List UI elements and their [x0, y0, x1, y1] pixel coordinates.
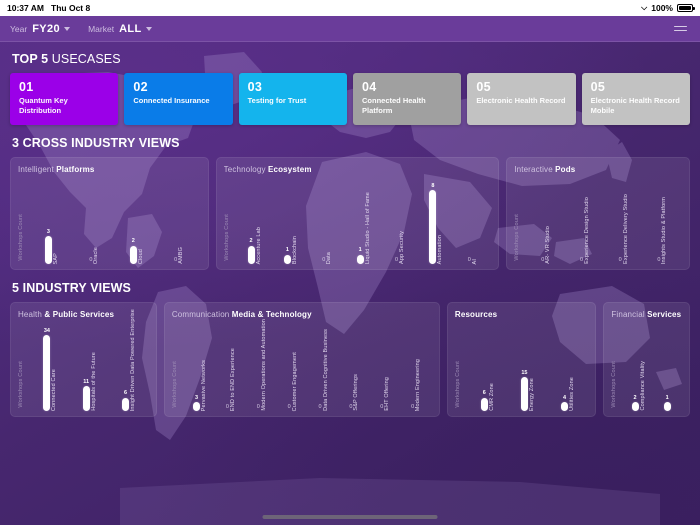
status-right-cluster: ⌵ 100% — [641, 3, 693, 13]
bar-value-label: 1 — [359, 247, 362, 253]
usecase-card-05-4[interactable]: 05Electronic Health Record — [467, 73, 575, 125]
usecase-card-03-2[interactable]: 03Testing for Trust — [239, 73, 347, 125]
bar-category-label: Insight Driven Data Powered Enterprise — [130, 309, 136, 411]
usecase-name: Connected Insurance — [133, 96, 223, 106]
bar-group[interactable]: 15Energy Zone — [508, 370, 548, 411]
bar-category-label: S&P Offerings — [353, 374, 359, 411]
bar-category-label: Modern Operations and Automation — [261, 319, 267, 411]
bar-value-label: 8 — [431, 183, 434, 189]
panel-title-bold: Ecosystem — [268, 165, 312, 174]
bar[interactable] — [664, 402, 671, 411]
bar-value-label: 1 — [286, 247, 289, 253]
cross-industry-section-title: 3 CROSS INDUSTRY VIEWS — [12, 136, 690, 150]
usecase-name: Electronic Health Record Mobile — [591, 96, 681, 115]
chart-panel-resources[interactable]: ResourcesWorkshops Count6CMR Zone15Energ… — [447, 302, 596, 417]
panel-title-bold: & Public Services — [44, 310, 114, 319]
bar-value-label: 0 — [468, 257, 471, 263]
bar-category-label: END to END Experience — [230, 348, 236, 411]
bar[interactable] — [130, 246, 137, 265]
bar-column: 1 — [664, 395, 671, 412]
bar-value-label: 0 — [174, 257, 177, 263]
usecase-rank: 01 — [19, 81, 109, 94]
ios-status-bar: 10:37 AM Thu Oct 8 ⌵ 100% — [0, 0, 700, 16]
bar-group[interactable]: 8Automation — [419, 183, 455, 265]
bar-group[interactable]: 0AMBG — [158, 247, 200, 264]
bar-group[interactable]: 0Modern Operations and Automation — [247, 319, 278, 411]
bar-series: 0AR- VR Studio0Experience Design Studio0… — [527, 176, 682, 264]
dashboard-content: TOP 5 USECASES 01Quantum Key Distributio… — [0, 42, 700, 417]
bar-column: 0 — [322, 257, 325, 265]
bar-column: 0 — [288, 404, 291, 412]
panel-title: Financial Services — [611, 310, 682, 319]
bar-column: 0 — [541, 257, 544, 265]
bar-value-label: 0 — [657, 257, 660, 263]
bar-group[interactable]: 0Data Driven Cognitive Business — [308, 329, 339, 411]
y-axis-label: Workshops Count — [611, 361, 617, 408]
bar-column: 2 — [248, 238, 255, 264]
bar-group[interactable]: 3SAP — [31, 229, 73, 264]
bar-group[interactable]: 1Blockchain — [273, 236, 309, 264]
y-axis-label: Workshops Count — [172, 361, 178, 408]
panel-title-light: Health — [18, 310, 42, 319]
bar-column: 0 — [619, 257, 622, 265]
usecase-card-01-0[interactable]: 01Quantum Key Distribution — [10, 73, 118, 125]
bar-group[interactable]: 0Oracle — [73, 247, 115, 264]
status-date: Thu Oct 8 — [51, 3, 90, 13]
bar-column: 0 — [226, 404, 229, 412]
bar[interactable] — [43, 335, 50, 411]
bar[interactable] — [481, 398, 488, 411]
bar-group[interactable]: 2Accenture Lab — [237, 227, 273, 264]
usecase-name: Electronic Health Record — [476, 96, 566, 106]
year-filter-value: FY20 — [32, 23, 60, 35]
market-filter-label: Market — [88, 24, 114, 34]
plot-area: Workshops Count2Compliance Vitality1 — [611, 321, 682, 411]
bar-category-label: Automation — [437, 235, 443, 264]
market-filter[interactable]: Market ALL — [88, 23, 152, 35]
bar-column: 0 — [411, 404, 414, 412]
bar-value-label: 0 — [226, 404, 229, 410]
bar-group[interactable]: 1Liquid Studio - Hall of Fame — [346, 192, 382, 264]
chart-panel-health-public-services[interactable]: Health & Public ServicesWorkshops Count3… — [10, 302, 157, 417]
battery-percent-label: 100% — [651, 3, 673, 13]
bar-category-label: Compliance Vitality — [640, 361, 646, 411]
bar-value-label: 0 — [380, 404, 383, 410]
bar-value-label: 6 — [483, 390, 486, 396]
market-filter-value: ALL — [119, 23, 142, 35]
chart-panel-financial-services[interactable]: Financial ServicesWorkshops Count2Compli… — [603, 302, 690, 417]
bar-column: 34 — [43, 328, 50, 412]
industry-section-title: 5 INDUSTRY VIEWS — [12, 281, 690, 295]
bar[interactable] — [521, 377, 528, 411]
bar-group[interactable]: 0EHT Offering — [370, 377, 401, 411]
bar-column: 0 — [257, 404, 260, 412]
year-filter-label: Year — [10, 24, 27, 34]
battery-icon — [677, 4, 693, 12]
top5-section-title: TOP 5 USECASES — [12, 52, 690, 66]
usecase-name: Connected Health Platform — [362, 96, 452, 115]
bar-group[interactable]: 0App Security — [382, 231, 418, 264]
bar-value-label: 0 — [349, 404, 352, 410]
bar-value-label: 0 — [89, 257, 92, 263]
usecase-card-list: 01Quantum Key Distribution02Connected In… — [10, 73, 690, 125]
bar[interactable] — [193, 402, 200, 411]
bar-column: 0 — [395, 257, 398, 265]
bar[interactable] — [561, 402, 568, 411]
bar-value-label: 2 — [250, 238, 253, 244]
bar-category-label: Connected Care — [51, 369, 57, 411]
bar-column: 1 — [357, 247, 364, 264]
usecase-name: Quantum Key Distribution — [19, 96, 109, 115]
bar-group[interactable]: 2Compliance Vitality — [624, 361, 653, 411]
bar-value-label: 1 — [666, 395, 669, 401]
bar-value-label: 0 — [288, 404, 291, 410]
bar-value-label: 2 — [132, 238, 135, 244]
bar-category-label: EHT Offering — [384, 377, 390, 411]
bar-value-label: 0 — [395, 257, 398, 263]
bar-category-label: Data Driven Cognitive Business — [323, 329, 329, 411]
bar[interactable] — [248, 246, 255, 265]
bar-category-label: Customer Engagement — [292, 352, 298, 411]
bar-group[interactable]: 6CMR Zone — [468, 383, 508, 411]
bar-group[interactable]: 4Utilities Zone — [548, 377, 588, 411]
panel-title-light: Financial — [611, 310, 644, 319]
bar-column: 11 — [83, 379, 90, 411]
plot-area: Workshops Count34Connected Care11Hospita… — [18, 321, 149, 411]
bar-category-label: Blockchain — [292, 236, 298, 264]
usecase-rank: 05 — [591, 81, 681, 94]
bar-category-label: AMBG — [178, 247, 184, 264]
dashboard-app: 10:37 AM Thu Oct 8 ⌵ 100% Year FY20 Mark… — [0, 0, 700, 525]
plot-area: Workshops Count6CMR Zone15Energy Zone4Ut… — [455, 321, 588, 411]
plot-area: Workshops Count0AR- VR Studio0Experience… — [514, 176, 682, 264]
y-axis-label: Workshops Count — [224, 214, 230, 261]
bar-category-label: SAP — [53, 253, 59, 264]
bar-category-label: Oracle — [93, 247, 99, 264]
bar-category-label: CMR Zone — [489, 383, 495, 411]
cross-industry-panels: Intelligent PlatformsWorkshops Count3SAP… — [10, 157, 690, 270]
bar-category-label: AR- VR Studio — [545, 226, 551, 264]
panel-title-bold: Resources — [455, 310, 497, 319]
bar-category-label: Cloud — [138, 249, 144, 264]
bar-column: 0 — [468, 257, 471, 265]
panel-title: Technology Ecosystem — [224, 165, 492, 174]
bar-group[interactable]: 0Experience Delivery Studio — [605, 194, 644, 264]
bar-column: 0 — [580, 257, 583, 265]
bar-column: 3 — [45, 229, 52, 264]
bar-category-label: Liquid Studio - Hall of Fame — [365, 192, 371, 264]
bar-group[interactable]: 2Cloud — [116, 238, 158, 264]
bar-column: 2 — [130, 238, 137, 264]
bar[interactable] — [45, 236, 52, 264]
bar-category-label: Experience Design Studio — [584, 197, 590, 264]
bar-category-label: Energy Zone — [529, 378, 535, 411]
bar-category-label: App Security — [399, 231, 405, 264]
bar-group[interactable]: 0S&P Offerings — [339, 374, 370, 411]
bar-group[interactable]: 3Pervasive Networks — [185, 360, 216, 411]
bar-value-label: 0 — [619, 257, 622, 263]
usecase-card-04-3[interactable]: 04Connected Health Platform — [353, 73, 461, 125]
bar-value-label: 15 — [521, 370, 527, 376]
usecase-rank: 03 — [248, 81, 338, 94]
panel-title-bold: Pods — [555, 165, 575, 174]
bar-group[interactable]: 0AR- VR Studio — [527, 226, 566, 264]
usecase-rank: 05 — [476, 81, 566, 94]
bar[interactable] — [284, 255, 291, 264]
bar-series: 6CMR Zone15Energy Zone4Utilities Zone — [468, 321, 588, 411]
y-axis-label: Workshops Count — [455, 361, 461, 408]
bar-value-label: 0 — [257, 404, 260, 410]
bar-column: 6 — [122, 390, 129, 411]
bar-column: 0 — [174, 257, 177, 265]
bar-column: 0 — [89, 257, 92, 265]
bar-series: 34Connected Care11Hospitals of the Futur… — [31, 321, 149, 411]
home-indicator[interactable] — [263, 515, 438, 519]
bar-group[interactable]: 0Insights Studio & Platform — [643, 197, 682, 264]
top5-heading-num: TOP 5 — [12, 52, 48, 66]
bar-column: 15 — [521, 370, 528, 411]
bar-column: 3 — [193, 395, 200, 412]
bar-value-label: 3 — [195, 395, 198, 401]
bar-category-label: Insights Studio & Platform — [661, 197, 667, 264]
bar-category-label: Accenture Lab — [256, 227, 262, 264]
status-time: 10:37 AM — [7, 3, 44, 13]
panel-title-light: Interactive — [514, 165, 553, 174]
bar-column: 0 — [657, 257, 660, 265]
cross-industry-heading-num: 3 — [12, 136, 19, 150]
bar-column: 8 — [429, 183, 436, 265]
bar-group[interactable]: 0Data — [309, 252, 345, 264]
dashboard-canvas: TOP 5 USECASES 01Quantum Key Distributio… — [0, 42, 700, 525]
panel-title: Interactive Pods — [514, 165, 682, 174]
panel-title-bold: Platforms — [56, 165, 94, 174]
chart-panel-communication-media-technology[interactable]: Communication Media & TechnologyWorkshop… — [164, 302, 440, 417]
industry-heading-rest: INDUSTRY VIEWS — [23, 281, 131, 295]
bar-value-label: 2 — [634, 395, 637, 401]
y-axis-label: Workshops Count — [18, 214, 24, 261]
bar-column: 0 — [349, 404, 352, 412]
bar-value-label: 0 — [541, 257, 544, 263]
usecase-rank: 04 — [362, 81, 452, 94]
bar-value-label: 0 — [322, 257, 325, 263]
year-filter[interactable]: Year FY20 — [10, 23, 70, 35]
wifi-icon: ⌵ — [641, 3, 647, 13]
bar[interactable] — [429, 190, 436, 264]
bar-group[interactable]: 0Modern Engineering — [401, 359, 432, 411]
usecase-name: Testing for Trust — [248, 96, 338, 106]
bar-category-label: Pervasive Networks — [201, 360, 207, 411]
bar-value-label: 4 — [563, 395, 566, 401]
bar-category-label: Utilities Zone — [569, 377, 575, 411]
plot-area: Workshops Count2Accenture Lab1Blockchain… — [224, 176, 492, 264]
bar-column: 1 — [284, 247, 291, 264]
cross-industry-heading-rest: CROSS INDUSTRY VIEWS — [23, 136, 180, 150]
plot-area: Workshops Count3SAP0Oracle2Cloud0AMBG — [18, 176, 201, 264]
bar-series: 2Compliance Vitality1 — [624, 321, 682, 411]
y-axis-label: Workshops Count — [514, 214, 520, 261]
bar-column: 2 — [632, 395, 639, 412]
bar-group[interactable]: 1 — [653, 395, 682, 412]
y-axis-label: Workshops Count — [18, 361, 24, 408]
bar-series: 3SAP0Oracle2Cloud0AMBG — [31, 176, 201, 264]
panel-title-light: Communication — [172, 310, 230, 319]
bar-category-label: Hospitals of the Future — [91, 352, 97, 411]
bar-group[interactable]: 6Insight Driven Data Powered Enterprise — [110, 309, 149, 411]
bar-group[interactable]: 0Experience Design Studio — [566, 197, 605, 264]
bar-value-label: 11 — [83, 379, 89, 385]
bar[interactable] — [122, 398, 129, 411]
chart-panel-intelligent-platforms[interactable]: Intelligent PlatformsWorkshops Count3SAP… — [10, 157, 209, 270]
panel-title: Communication Media & Technology — [172, 310, 432, 319]
chart-panel-interactive-pods[interactable]: Interactive PodsWorkshops Count0AR- VR S… — [506, 157, 690, 270]
panel-title-light: Technology — [224, 165, 266, 174]
industry-heading-num: 5 — [12, 281, 19, 295]
bar-category-label: AI — [472, 259, 478, 265]
chart-panel-technology-ecosystem[interactable]: Technology EcosystemWorkshops Count2Acce… — [216, 157, 500, 270]
bar-group[interactable]: 11Hospitals of the Future — [70, 352, 109, 411]
bar[interactable] — [83, 386, 90, 411]
bar-category-label: Experience Delivery Studio — [623, 194, 629, 264]
bar-value-label: 34 — [44, 328, 50, 334]
bar-group[interactable]: 0END to END Experience — [216, 348, 247, 411]
filter-bar: Year FY20 Market ALL — [0, 16, 700, 42]
usecase-card-02-1[interactable]: 02Connected Insurance — [124, 73, 232, 125]
panel-title-light: Intelligent — [18, 165, 54, 174]
hamburger-menu-icon[interactable] — [671, 23, 690, 35]
bar-value-label: 0 — [580, 257, 583, 263]
bar-column: 0 — [319, 404, 322, 412]
bar-column: 0 — [380, 404, 383, 412]
panel-title: Resources — [455, 310, 588, 319]
bar-value-label: 0 — [411, 404, 414, 410]
bar-group[interactable]: 34Connected Care — [31, 328, 70, 412]
bar[interactable] — [632, 402, 639, 411]
chevron-down-icon — [64, 27, 70, 31]
bar-column: 6 — [481, 390, 488, 411]
top5-heading-rest: USECASES — [52, 52, 121, 66]
usecase-card-05-5[interactable]: 05Electronic Health Record Mobile — [582, 73, 690, 125]
panel-title-bold: Media & Technology — [232, 310, 312, 319]
industry-panels: Health & Public ServicesWorkshops Count3… — [10, 302, 690, 417]
bar-group[interactable]: 0Customer Engagement — [278, 352, 309, 411]
bar-series: 2Accenture Lab1Blockchain0Data1Liquid St… — [237, 176, 492, 264]
bar-value-label: 0 — [319, 404, 322, 410]
panel-title-bold: Services — [647, 310, 681, 319]
bar-group[interactable]: 0AI — [455, 257, 491, 265]
chevron-down-icon — [146, 27, 152, 31]
bar-column: 4 — [561, 395, 568, 412]
usecase-rank: 02 — [133, 81, 223, 94]
bar-category-label: Data — [326, 252, 332, 264]
panel-title: Intelligent Platforms — [18, 165, 201, 174]
bar-value-label: 3 — [47, 229, 50, 235]
bar[interactable] — [357, 255, 364, 264]
plot-area: Workshops Count3Pervasive Networks0END t… — [172, 321, 432, 411]
bar-series: 3Pervasive Networks0END to END Experienc… — [185, 321, 432, 411]
bar-value-label: 6 — [124, 390, 127, 396]
bar-category-label: Modern Engineering — [415, 359, 421, 411]
